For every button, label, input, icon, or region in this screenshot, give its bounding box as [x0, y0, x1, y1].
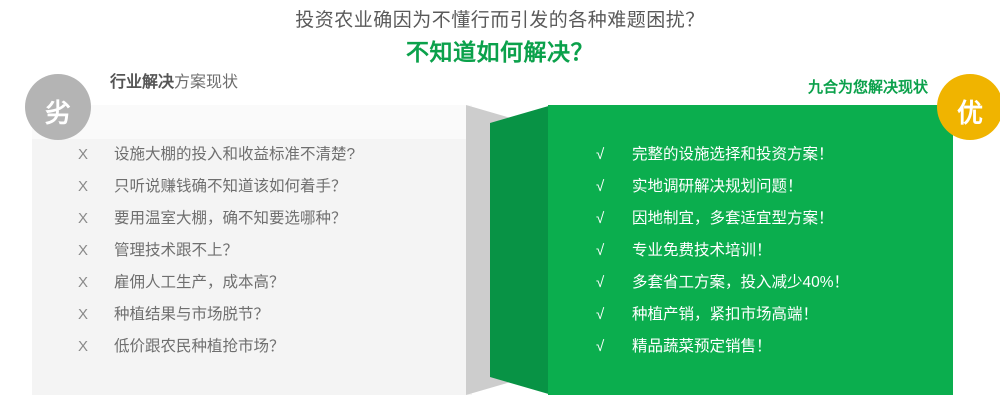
check-icon: √: [596, 338, 632, 355]
list-item: √实地调研解决规划问题！: [596, 174, 956, 206]
list-item: X设施大棚的投入和收益标准不清楚?: [78, 142, 458, 174]
list-item-label: 种植产销，紧扣市场高端！: [632, 302, 818, 324]
cross-icon: X: [78, 306, 114, 323]
list-item: √精品蔬菜预定销售！: [596, 334, 956, 366]
list-item-label: 多套省工方案，投入减少40%！: [632, 270, 849, 292]
list-item-label: 设施大棚的投入和收益标准不清楚?: [114, 142, 355, 164]
cross-icon: X: [78, 178, 114, 195]
cross-icon: X: [78, 210, 114, 227]
cross-icon: X: [78, 274, 114, 291]
list-item: X管理技术跟不上？: [78, 238, 458, 270]
check-icon: √: [596, 178, 632, 195]
badge-superior: 优: [937, 74, 1000, 140]
list-item-label: 要用温室大棚，确不知要选哪种？: [114, 206, 347, 228]
solution-list: √完整的设施选择和投资方案！ √实地调研解决规划问题！ √因地制宜，多套适宜型方…: [596, 142, 956, 366]
check-icon: √: [596, 146, 632, 163]
cross-icon: X: [78, 338, 114, 355]
left-section-title-bold: 行业解决: [110, 74, 174, 91]
headline-line-1: 投资农业确因为不懂行而引发的各种难题困扰？: [0, 8, 1000, 34]
list-item: √专业免费技术培训！: [596, 238, 956, 270]
list-item: X低价跟农民种植抢市场？: [78, 334, 458, 366]
left-panel-top-highlight: [32, 105, 472, 139]
list-item-label: 只听说赚钱确不知道该如何着手？: [114, 174, 347, 196]
headline-block: 投资农业确因为不懂行而引发的各种难题困扰？ 不知道如何解决？: [0, 8, 1000, 68]
problem-list: X设施大棚的投入和收益标准不清楚? X只听说赚钱确不知道该如何着手？ X要用温室…: [78, 142, 458, 366]
ribbon-fold-green: [490, 105, 552, 395]
cross-icon: X: [78, 146, 114, 163]
headline-line-2: 不知道如何解决？: [0, 36, 1000, 68]
list-item-label: 管理技术跟不上？: [114, 238, 238, 260]
list-item-label: 实地调研解决规划问题！: [632, 174, 803, 196]
list-item: √多套省工方案，投入减少40%！: [596, 270, 956, 302]
comparison-banner: 投资农业确因为不懂行而引发的各种难题困扰？ 不知道如何解决？ 行业解决方案现状 …: [0, 0, 1000, 416]
list-item-label: 因地制宜，多套适宜型方案！: [632, 206, 834, 228]
list-item-label: 低价跟农民种植抢市场？: [114, 334, 285, 356]
list-item: X雇佣人工生产，成本高？: [78, 270, 458, 302]
check-icon: √: [596, 306, 632, 323]
check-icon: √: [596, 242, 632, 259]
left-section-title: 行业解决方案现状: [110, 68, 238, 92]
badge-inferior: 劣: [25, 74, 91, 140]
list-item: √完整的设施选择和投资方案！: [596, 142, 956, 174]
list-item: X只听说赚钱确不知道该如何着手？: [78, 174, 458, 206]
list-item-label: 专业免费技术培训！: [632, 238, 772, 260]
right-section-title: 九合为您解决现状: [808, 76, 928, 97]
list-item: X要用温室大棚，确不知要选哪种？: [78, 206, 458, 238]
list-item-label: 雇佣人工生产，成本高？: [114, 270, 285, 292]
list-item: √种植产销，紧扣市场高端！: [596, 302, 956, 334]
list-item-label: 精品蔬菜预定销售！: [632, 334, 772, 356]
list-item: √因地制宜，多套适宜型方案！: [596, 206, 956, 238]
list-item-label: 完整的设施选择和投资方案！: [632, 142, 834, 164]
check-icon: √: [596, 274, 632, 291]
left-section-title-rest: 方案现状: [174, 74, 238, 91]
list-item-label: 种植结果与市场脱节？: [114, 302, 269, 324]
check-icon: √: [596, 210, 632, 227]
cross-icon: X: [78, 242, 114, 259]
list-item: X种植结果与市场脱节？: [78, 302, 458, 334]
